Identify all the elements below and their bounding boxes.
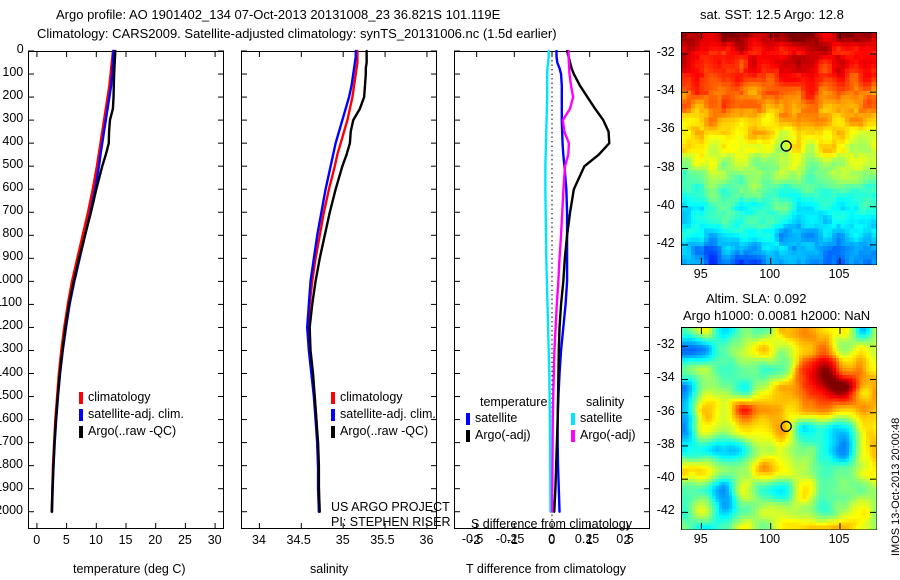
difference-legend-sal-swatch-0 [571, 413, 575, 425]
temperature-legend-swatch-1 [79, 409, 83, 421]
sst-map-title: sat. SST: 12.5 Argo: 12.8 [700, 7, 844, 22]
series-climatology [52, 51, 113, 512]
depth-tick-1900: 1900 [0, 480, 23, 494]
difference-legend-temp-label-1: Argo(-adj) [475, 428, 531, 442]
temperature-legend-label-1: satellite-adj. clim. [88, 407, 184, 421]
temperature-legend-swatch-0 [79, 392, 83, 404]
depth-tick-1700: 1700 [0, 434, 23, 448]
temperature-legend-label-2: Argo(..raw -QC) [88, 424, 176, 438]
depth-tick-1800: 1800 [0, 457, 23, 471]
salinity-legend-label-1: satellite-adj. clim. [340, 407, 436, 421]
depth-tick-2000: 2000 [0, 503, 23, 517]
page-title-line2: Climatology: CARS2009. Satellite-adjuste… [37, 26, 557, 41]
sst-map-lat-tick--42: -42 [657, 236, 675, 250]
difference-legend-sal-label-1: Argo(-adj) [580, 428, 636, 442]
tdiff-tick-0: 0 [548, 533, 555, 547]
salinity-legend-swatch-1 [331, 409, 335, 421]
depth-tick-1400: 1400 [0, 365, 23, 379]
salinity-tick-35.5: 35.5 [370, 533, 394, 547]
depth-tick-100: 100 [2, 65, 23, 79]
temperature-plot-svg [28, 51, 224, 529]
temperature-tick-15: 15 [119, 533, 133, 547]
temperature-tick-5: 5 [63, 533, 70, 547]
temperature-tick-20: 20 [148, 533, 162, 547]
depth-tick-1300: 1300 [0, 341, 23, 355]
depth-tick-1000: 1000 [0, 272, 23, 286]
sla-map-lon-tick-100: 100 [759, 532, 780, 546]
sla-map-title-line1: Altim. SLA: 0.092 [706, 291, 806, 306]
series-salinity-satellite [545, 51, 550, 512]
depth-tick-600: 600 [2, 180, 23, 194]
sla-map-lat-tick--38: -38 [657, 437, 675, 451]
depth-tick-1500: 1500 [0, 388, 23, 402]
sst-map-lat-tick--32: -32 [657, 45, 675, 59]
sst-map-lat-tick--38: -38 [657, 160, 675, 174]
depth-tick-700: 700 [2, 203, 23, 217]
difference-legend-sal-label-0: satellite [580, 411, 622, 425]
salinity-legend-label-0: climatology [340, 390, 403, 404]
depth-tick-300: 300 [2, 111, 23, 125]
depth-tick-400: 400 [2, 134, 23, 148]
depth-tick-1600: 1600 [0, 411, 23, 425]
temperature-tick-10: 10 [89, 533, 103, 547]
sst-map-lat-tick--40: -40 [657, 198, 675, 212]
tdiff-tick-2: 2 [624, 533, 631, 547]
difference-plot-svg [454, 51, 650, 529]
depth-tick-1100: 1100 [0, 295, 22, 309]
temperature-tick-0: 0 [33, 533, 40, 547]
depth-tick-800: 800 [2, 226, 23, 240]
sla-map-title-line2: Argo h1000: 0.0081 h2000: NaN [683, 308, 870, 323]
depth-tick-500: 500 [2, 157, 23, 171]
difference-axis-label-top: S difference from climatology [471, 517, 632, 531]
sla-map-lon-tick-105: 105 [829, 532, 850, 546]
salinity-tick-34: 34 [252, 533, 266, 547]
sst-map-svg [682, 33, 876, 264]
sst-map-lat-tick--34: -34 [657, 83, 675, 97]
salinity-axis-label: salinity [310, 562, 348, 576]
sla-map-lat-tick--36: -36 [657, 404, 675, 418]
depth-tick-1200: 1200 [0, 318, 23, 332]
depth-tick-0: 0 [17, 42, 24, 56]
difference-legend-sal-swatch-1 [571, 430, 575, 442]
temperature-legend-label-0: climatology [88, 390, 151, 404]
salinity-tick-35: 35 [336, 533, 350, 547]
temperature-axis-label: temperature (deg C) [73, 562, 186, 576]
difference-legend-temp-label-0: satellite [475, 411, 517, 425]
sst-map-lon-tick-100: 100 [759, 267, 780, 281]
credit-line1: US ARGO PROJECT [331, 500, 450, 514]
page-title-line1: Argo profile: AO 1901402_134 07-Oct-2013… [56, 7, 500, 22]
temperature-legend-swatch-2 [79, 426, 83, 438]
sla-map-lat-tick--34: -34 [657, 370, 675, 384]
difference-axis-label-bottom: T difference from climatology [466, 562, 626, 576]
salinity-tick-34.5: 34.5 [287, 533, 311, 547]
salinity-plot-svg [241, 51, 437, 529]
sst-map-lon-tick-95: 95 [694, 267, 708, 281]
tdiff-tick-1: 1 [586, 533, 593, 547]
series-argo-raw-qc- [310, 51, 367, 512]
credit-line2: PI: STEPHEN RISER [331, 515, 450, 529]
imos-watermark: IMOS 13-Oct-2013 20:00:48 [890, 418, 900, 556]
sla-map-svg [682, 328, 876, 529]
depth-tick-200: 200 [2, 88, 23, 102]
sla-map-lon-tick-95: 95 [694, 532, 708, 546]
sst-map-lat-tick--36: -36 [657, 121, 675, 135]
difference-legend-temp-swatch-0 [466, 413, 470, 425]
tdiff-tick--2: -2 [469, 533, 480, 547]
salinity-legend-swatch-2 [331, 426, 335, 438]
tdiff-tick--1: -1 [507, 533, 518, 547]
salinity-tick-36: 36 [420, 533, 434, 547]
difference-legend-temp-swatch-1 [466, 430, 470, 442]
temperature-tick-25: 25 [178, 533, 192, 547]
sla-map-lat-tick--32: -32 [657, 337, 675, 351]
sla-map-lat-tick--40: -40 [657, 470, 675, 484]
temperature-tick-30: 30 [208, 533, 222, 547]
depth-tick-900: 900 [2, 249, 23, 263]
salinity-legend-label-2: Argo(..raw -QC) [340, 424, 428, 438]
sst-map-lon-tick-105: 105 [829, 267, 850, 281]
sla-map-lat-tick--42: -42 [657, 503, 675, 517]
salinity-legend-swatch-0 [331, 392, 335, 404]
difference-legend-title-temperature: temperature [480, 395, 547, 409]
difference-legend-title-salinity: salinity [586, 395, 624, 409]
